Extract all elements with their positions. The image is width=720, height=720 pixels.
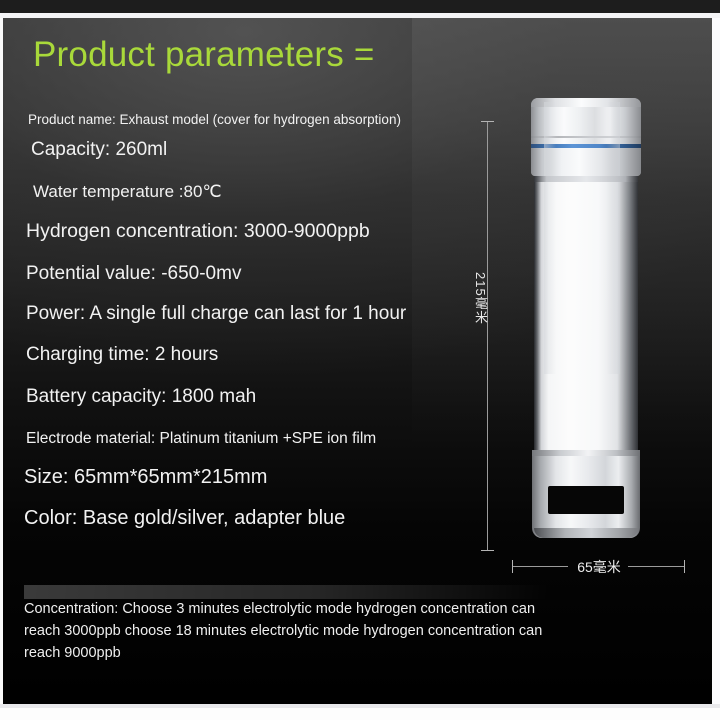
spec-size: Size: 65mm*65mm*215mm [24, 466, 267, 489]
top-dark-band [0, 0, 720, 13]
right-page-margin [712, 18, 720, 704]
spec-water-temperature: Water temperature :80℃ [33, 182, 222, 202]
width-dimension-label: 65毫米 [570, 557, 628, 577]
product-parameters-poster: Product parameters = Product name: Exhau… [0, 0, 720, 720]
bottle-base-top-rim [532, 450, 640, 456]
spec-electrode-material: Electrode material: Platinum titanium +S… [26, 430, 376, 448]
bottle-base-foot [534, 528, 638, 538]
width-dimension-tick-right [684, 560, 685, 573]
spec-hydrogen-concentration: Hydrogen concentration: 3000-9000ppb [26, 220, 370, 243]
bottle-base-window [548, 486, 624, 514]
bottle-glass-neck [534, 176, 638, 182]
height-dimension-tick-bottom [481, 550, 494, 551]
height-dimension-tick-top [481, 121, 494, 122]
note-highlight-bar [24, 585, 549, 599]
width-dimension-tick-left [512, 560, 513, 573]
height-dimension-label: 215毫米 [471, 272, 490, 325]
page-title: Product parameters = [33, 34, 375, 76]
spec-capacity: Capacity: 260ml [31, 139, 167, 161]
spec-color: Color: Base gold/silver, adapter blue [24, 507, 345, 530]
spec-charging-time: Charging time: 2 hours [26, 344, 218, 366]
height-dimension-line [487, 122, 488, 550]
width-dimension-line-left [512, 566, 568, 567]
left-page-margin [0, 18, 3, 704]
product-image-bottle [530, 98, 642, 538]
concentration-note: Concentration: Choose 3 minutes electrol… [24, 598, 564, 664]
spec-product-name: Product name: Exhaust model (cover for h… [28, 112, 401, 127]
spec-power: Power: A single full charge can last for… [26, 303, 406, 325]
bottom-white-band [0, 708, 720, 720]
bottle-glass-inner [544, 102, 620, 374]
width-dimension-line-right [628, 566, 684, 567]
spec-potential-value: Potential value: -650-0mv [26, 263, 241, 285]
spec-battery-capacity: Battery capacity: 1800 mah [26, 386, 256, 408]
